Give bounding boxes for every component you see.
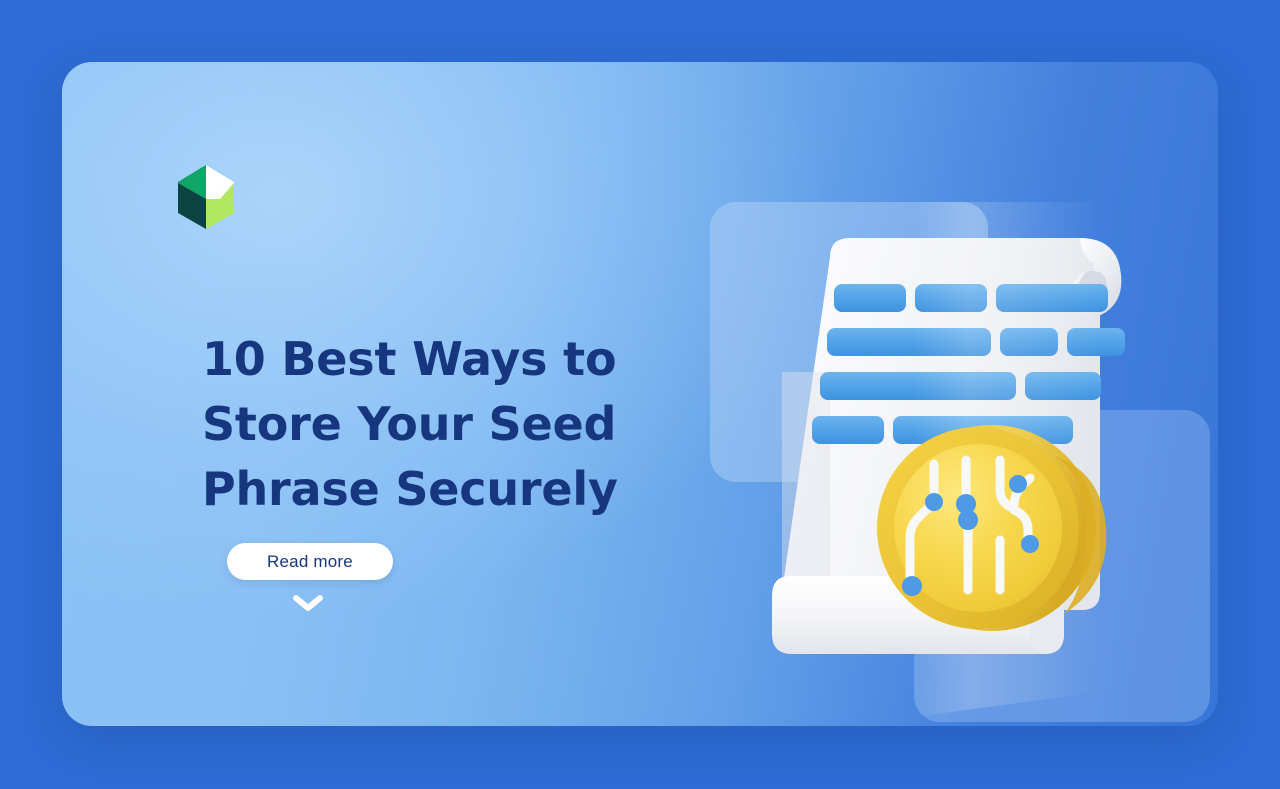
chevron-down-icon[interactable] <box>290 591 326 615</box>
page-title: 10 Best Ways to Store Your Seed Phrase S… <box>202 327 672 522</box>
hero-illustration <box>682 172 1218 726</box>
hero-card: 10 Best Ways to Store Your Seed Phrase S… <box>62 62 1218 726</box>
read-more-button[interactable]: Read more <box>227 543 393 580</box>
text-bar <box>812 416 884 444</box>
hexagon-cube-logo <box>174 163 238 231</box>
page-stage: 10 Best Ways to Store Your Seed Phrase S… <box>0 0 1280 789</box>
text-bar <box>834 284 906 312</box>
